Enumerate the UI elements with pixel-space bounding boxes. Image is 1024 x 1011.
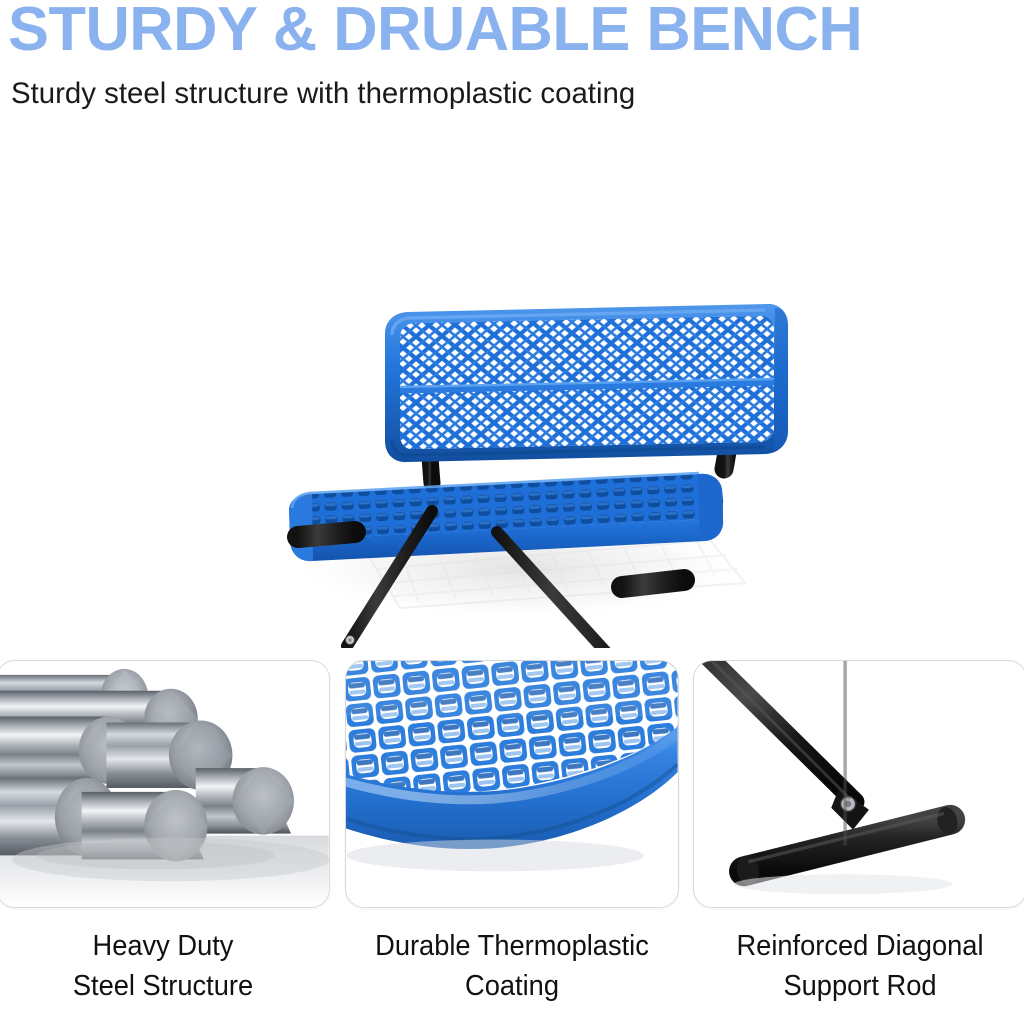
feature-caption: Heavy Duty Steel Structure — [6, 926, 320, 1006]
feature-thumbnail-mesh-seat-corner — [345, 660, 679, 908]
feature-card-heavy-duty-steel-structure: Heavy Duty Steel Structure — [0, 660, 330, 1011]
feature-card-durable-thermoplastic-coating: Durable Thermoplastic Coating — [345, 660, 679, 1011]
feature-caption-line1: Reinforced Diagonal — [736, 930, 983, 962]
feature-card-row: Heavy Duty Steel Structure — [0, 660, 1024, 1011]
page-title: STURDY & DRUABLE BENCH — [8, 0, 862, 62]
feature-caption: Durable Thermoplastic Coating — [355, 926, 669, 1006]
bench-backrest — [385, 304, 788, 462]
feature-caption-line2: Support Rod — [703, 966, 1017, 1006]
feature-caption-line2: Steel Structure — [6, 966, 320, 1006]
blue-mesh-seat-corner-icon — [346, 661, 678, 907]
page-subtitle: Sturdy steel structure with thermoplasti… — [11, 76, 635, 112]
feature-thumbnail-support-rod — [693, 660, 1024, 908]
feature-caption-line2: Coating — [355, 966, 669, 1006]
hero-product-image — [0, 128, 1024, 648]
feature-caption: Reinforced Diagonal Support Rod — [703, 926, 1017, 1006]
bench-illustration — [0, 128, 1024, 648]
feature-caption-line1: Heavy Duty — [93, 930, 234, 962]
steel-rods-icon — [0, 661, 329, 907]
feature-thumbnail-steel-rods — [0, 660, 330, 908]
feature-card-reinforced-diagonal-support-rod: Reinforced Diagonal Support Rod — [693, 660, 1024, 1011]
product-feature-page: STURDY & DRUABLE BENCH Sturdy steel stru… — [0, 0, 1024, 1011]
backrest-mesh — [395, 304, 785, 458]
rod-group-mid-far-right — [196, 767, 294, 834]
feature-caption-line1: Durable Thermoplastic — [375, 930, 649, 962]
black-support-rod-icon — [694, 661, 1024, 907]
